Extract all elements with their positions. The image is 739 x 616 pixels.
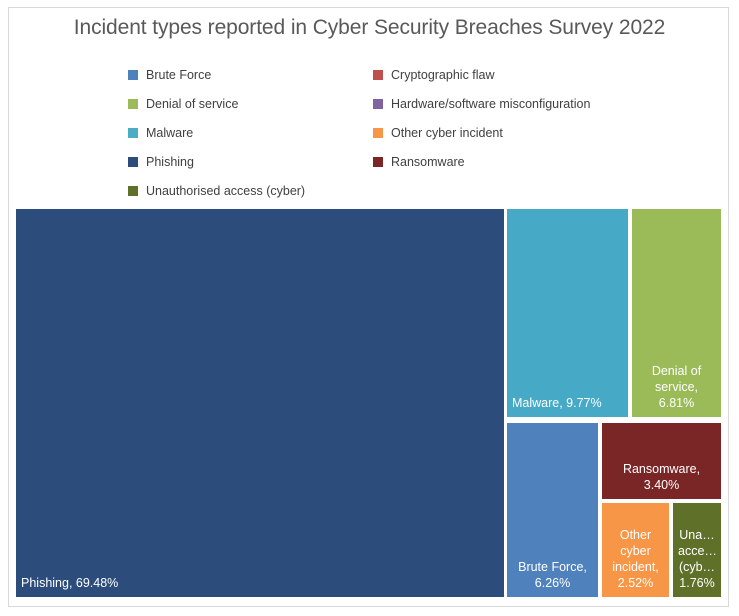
treemap-label-line: 1.76%	[678, 575, 716, 591]
legend-item-denial-of-service[interactable]: Denial of service	[128, 89, 373, 118]
treemap-cell-ransomware[interactable]: Ransomware, 3.40%	[602, 423, 721, 499]
legend-item-malware[interactable]: Malware	[128, 118, 373, 147]
treemap-label-line: Ransomware,	[607, 461, 716, 477]
legend-swatch-hardware-software-misconfiguration	[373, 99, 383, 109]
legend-swatch-malware	[128, 128, 138, 138]
treemap-label-denial-of-service: Denial of service, 6.81%	[632, 363, 721, 411]
treemap-label-line: Una…	[678, 527, 716, 543]
legend-swatch-other-cyber-incident	[373, 128, 383, 138]
treemap-label-line: (cyb…	[678, 559, 716, 575]
treemap-label-line: acce…	[678, 543, 716, 559]
treemap-plot-area: Phishing, 69.48% Malware, 9.77% Denial o…	[16, 209, 721, 597]
treemap-cell-brute-force[interactable]: Brute Force, 6.26%	[507, 423, 598, 597]
legend-label-cryptographic-flaw: Cryptographic flaw	[391, 68, 495, 82]
legend-row: Unauthorised access (cyber)	[128, 176, 688, 205]
legend-item-ransomware[interactable]: Ransomware	[373, 147, 673, 176]
legend-item-unauthorised-access-cyber[interactable]: Unauthorised access (cyber)	[128, 176, 373, 205]
treemap-label-line: Denial of	[637, 363, 716, 379]
legend-label-phishing: Phishing	[146, 155, 194, 169]
treemap-label-line: 6.81%	[637, 395, 716, 411]
legend-row: Malware Other cyber incident	[128, 118, 688, 147]
treemap-cell-denial-of-service[interactable]: Denial of service, 6.81%	[632, 209, 721, 417]
legend-row: Brute Force Cryptographic flaw	[128, 60, 688, 89]
legend-label-other-cyber-incident: Other cyber incident	[391, 126, 503, 140]
treemap-label-brute-force: Brute Force, 6.26%	[507, 559, 598, 591]
legend-item-cryptographic-flaw[interactable]: Cryptographic flaw	[373, 60, 673, 89]
legend-label-hardware-software-misconfiguration: Hardware/software misconfiguration	[391, 97, 590, 111]
treemap-label-unauthorised-access-cyber: Una… acce… (cyb… 1.76%	[673, 527, 721, 591]
treemap-label-line: cyber	[607, 543, 664, 559]
treemap-cell-unauthorised-access-cyber[interactable]: Una… acce… (cyb… 1.76%	[673, 503, 721, 597]
legend-item-brute-force[interactable]: Brute Force	[128, 60, 373, 89]
chart-title: Incident types reported in Cyber Securit…	[16, 16, 723, 40]
treemap-label-line: Brute Force,	[512, 559, 593, 575]
chart-legend: Brute Force Cryptographic flaw Denial of…	[128, 60, 688, 205]
treemap-label-other-cyber-incident: Other cyber incident, 2.52%	[602, 527, 669, 591]
legend-item-hardware-software-misconfiguration[interactable]: Hardware/software misconfiguration	[373, 89, 673, 118]
legend-label-ransomware: Ransomware	[391, 155, 465, 169]
legend-swatch-ransomware	[373, 157, 383, 167]
treemap-label-line: Other	[607, 527, 664, 543]
treemap-cell-malware[interactable]: Malware, 9.77%	[507, 209, 628, 417]
treemap-label-ransomware: Ransomware, 3.40%	[602, 461, 721, 493]
legend-item-phishing[interactable]: Phishing	[128, 147, 373, 176]
legend-label-brute-force: Brute Force	[146, 68, 211, 82]
legend-row: Denial of service Hardware/software misc…	[128, 89, 688, 118]
treemap-label-line: 6.26%	[512, 575, 593, 591]
legend-swatch-phishing	[128, 157, 138, 167]
legend-label-malware: Malware	[146, 126, 193, 140]
legend-label-unauthorised-access-cyber: Unauthorised access (cyber)	[146, 184, 305, 198]
treemap-chart-container: Incident types reported in Cyber Securit…	[0, 0, 739, 616]
legend-swatch-cryptographic-flaw	[373, 70, 383, 80]
legend-swatch-brute-force	[128, 70, 138, 80]
treemap-cell-phishing[interactable]: Phishing, 69.48%	[16, 209, 504, 597]
legend-row: Phishing Ransomware	[128, 147, 688, 176]
treemap-label-phishing: Phishing, 69.48%	[16, 575, 504, 591]
treemap-cell-other-cyber-incident[interactable]: Other cyber incident, 2.52%	[602, 503, 669, 597]
treemap-label-line: incident,	[607, 559, 664, 575]
treemap-label-line: 3.40%	[607, 477, 716, 493]
legend-label-denial-of-service: Denial of service	[146, 97, 238, 111]
treemap-label-malware: Malware, 9.77%	[507, 395, 628, 411]
treemap-label-line: service,	[637, 379, 716, 395]
legend-item-other-cyber-incident[interactable]: Other cyber incident	[373, 118, 673, 147]
treemap-label-line: 2.52%	[607, 575, 664, 591]
legend-swatch-denial-of-service	[128, 99, 138, 109]
legend-swatch-unauthorised-access-cyber	[128, 186, 138, 196]
